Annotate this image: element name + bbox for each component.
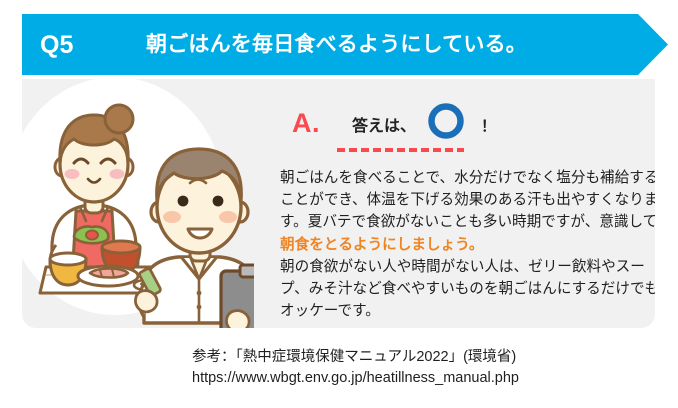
answer-paragraph-2: 朝の食欲がない人や時間がない人は、ゼリー飲料やスープ、みそ汁など食べやすいものを… [280,256,655,323]
reference-source-line: 参考：「熱中症環境保健マニュアル2022」(環境省) [192,347,662,368]
answer-content-panel: A. 答えは、 ！ 朝ごはんを食べることで、水分だけでなく塩分も補給することがで… [22,79,655,328]
answer-paragraph-1-highlight: 朝食をとるようにしましょう。 [280,237,483,253]
answer-body-text: 朝ごはんを食べることで、水分だけでなく塩分も補給することができ、体温を下げる効果… [280,167,655,322]
reference-url-line: https://www.wbgt.env.go.jp/heatillness_m… [192,368,662,389]
answer-paragraph-1: 朝ごはんを食べることで、水分だけでなく塩分も補給することができ、体温を下げる効果… [280,167,655,256]
question-header-banner: Q5 朝ごはんを毎日食べるようにしている。 [22,14,668,75]
circle-maru-icon [426,101,466,141]
question-number-label: Q5 [40,30,73,60]
answer-paragraph-1-pre: 朝ごはんを食べることで、水分だけでなく塩分も補給することができ、体温を下げる効果… [280,170,655,230]
doctor-with-clipboard-illustration [135,149,254,328]
question-text-label: 朝ごはんを毎日食べるようにしている。 [146,31,527,59]
illustration-area [22,79,254,328]
answer-row: A. 答えは、 ！ [274,99,644,161]
answer-lead-text: 答えは、 [352,117,416,137]
footer-reference: 参考：「熱中症環境保健マニュアル2022」(環境省) https://www.w… [192,347,662,389]
characters-illustration [22,79,254,328]
answer-label: A. [292,108,320,138]
dashed-red-underline [337,148,464,152]
answer-exclamation: ！ [481,118,496,136]
